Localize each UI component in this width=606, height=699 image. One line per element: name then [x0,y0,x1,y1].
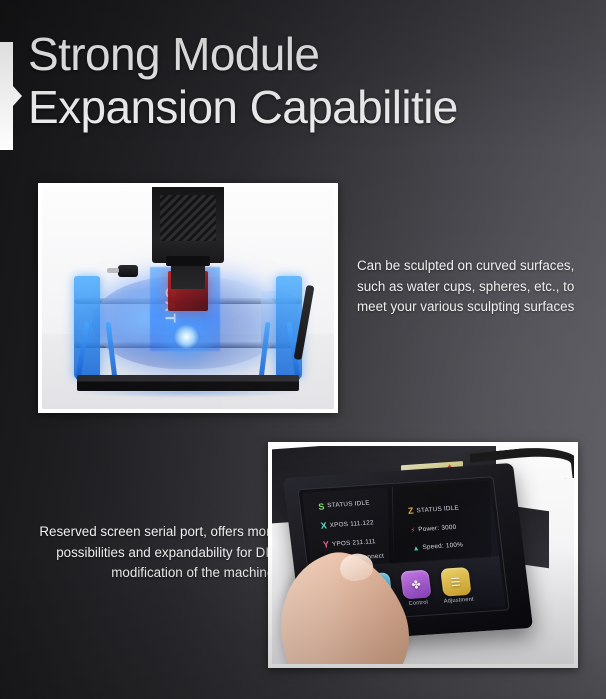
status-row-ypos-label: YPOS 211.111 [332,539,376,548]
laser-burn-spot [173,325,199,349]
aluminium-base-rail [77,375,299,391]
promo-banner: Strong Module Expansion Capabilitie CAT [0,0,606,699]
app-label-control: Control [404,600,433,608]
page-title: Strong Module Expansion Capabilitie [28,28,606,134]
x-axis-icon: X [320,522,327,531]
air-assist-nozzle-icon [118,265,138,277]
dpad-icon: ✤ [400,570,432,600]
speed-icon: ▲ [412,545,420,552]
status-row-xpos: X XPOS 111.122 [320,518,374,530]
app-icon-adjustment[interactable]: ☰ Adjustment [440,567,473,605]
title-line-2: Expansion Capabilitie [28,81,606,134]
power-bolt-icon: ⚡ [410,527,416,534]
laser-module-head [152,187,224,263]
y-axis-icon: Y [323,541,330,550]
touchscreen-control-panel-photo: S STATUS IDLE X XPOS 111.122 Y YPOS 211.… [268,442,578,668]
sliders-icon: ☰ [440,567,472,597]
app-icon-control[interactable]: ✤ Control [400,570,433,608]
s-axis-icon: S [318,503,325,512]
feature-text-serial-port: Reserved screen serial port, offers more… [30,522,278,584]
status-row-s: S STATUS IDLE [318,500,370,512]
feature-text-curved-surfaces: Can be sculpted on curved surfaces, such… [357,256,593,318]
status-row-xpos-label: XPOS 111.122 [330,520,375,529]
status-row-z-label: STATUS IDLE [416,505,459,514]
status-row-ypos: Y YPOS 211.111 [323,538,377,550]
rotary-roller-engraving-photo: CAT [38,183,338,413]
z-axis-icon: Z [408,507,415,516]
header: Strong Module Expansion Capabilitie [0,28,606,156]
status-panel-right-bg [388,480,491,563]
status-row-s-label: STATUS IDLE [327,501,370,510]
app-label-adjustment: Adjustment [444,597,473,605]
title-line-1: Strong Module [28,28,606,81]
bookmark-arrow-marker-icon [0,42,22,150]
